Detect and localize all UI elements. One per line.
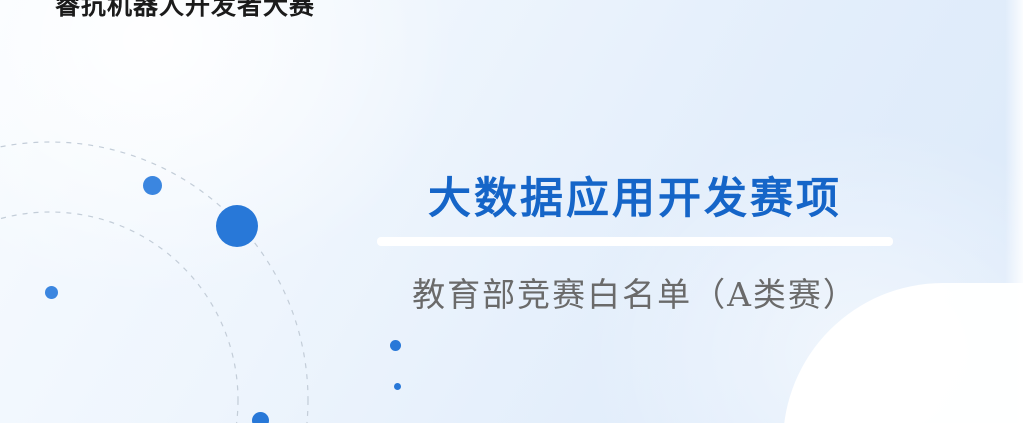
decorative-dot-icon	[390, 340, 401, 351]
decorative-dot-icon	[45, 286, 58, 299]
main-title: 大数据应用开发赛项	[375, 176, 895, 223]
title-underline-rule	[377, 237, 893, 246]
decorative-dot-icon	[394, 383, 401, 390]
decorative-dot-icon	[216, 205, 258, 247]
decorative-dot-icon	[252, 412, 269, 423]
slide-header-title: 睿抗机器人开发者大赛	[55, 0, 315, 22]
dashed-arcs-decoration	[0, 120, 330, 423]
presentation-slide: 睿抗机器人开发者大赛 大数据应用开发赛项 教育部竞赛白名单（A类赛）	[0, 0, 1023, 423]
title-block: 大数据应用开发赛项 教育部竞赛白名单（A类赛）	[375, 176, 895, 316]
slide-subtitle: 教育部竞赛白名单（A类赛）	[375, 268, 895, 316]
right-edge-fade	[1005, 0, 1023, 423]
decorative-dot-icon	[143, 176, 162, 195]
